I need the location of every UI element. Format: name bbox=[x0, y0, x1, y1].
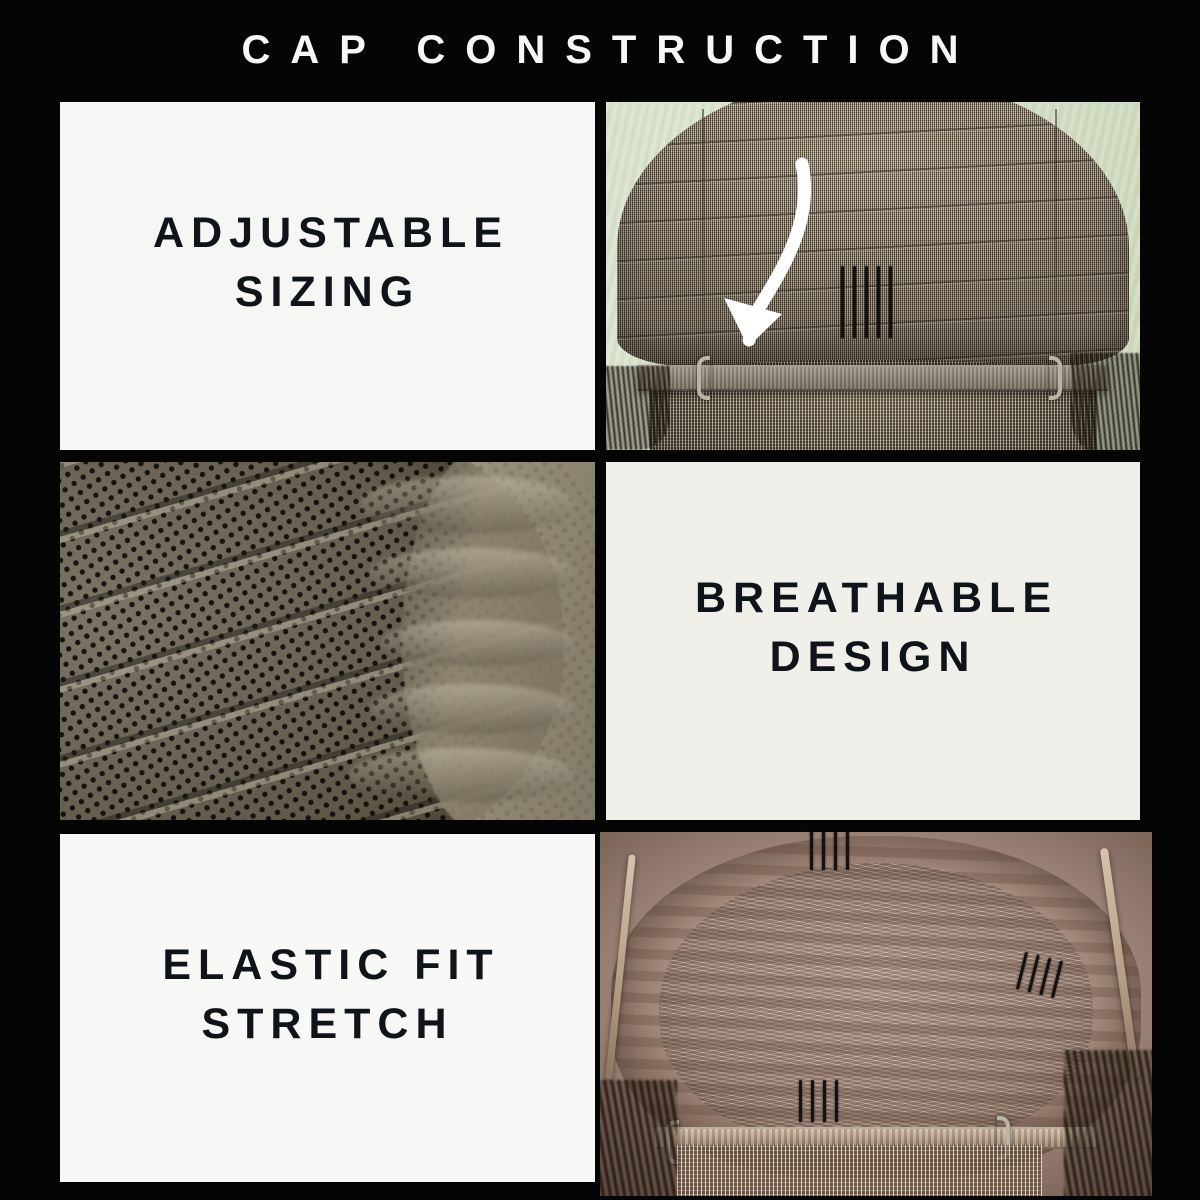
comb-tooth bbox=[822, 832, 825, 870]
cap-comb-top bbox=[810, 832, 849, 870]
panel-cap-back-photo bbox=[606, 102, 1140, 450]
photo-wig-cap-back bbox=[606, 102, 1140, 450]
comb-tooth bbox=[889, 266, 892, 338]
stray-hair-right bbox=[1071, 353, 1140, 450]
comb-tooth bbox=[877, 266, 880, 338]
comb-tooth bbox=[811, 1080, 814, 1122]
stray-hair-left bbox=[606, 366, 670, 450]
mesh-fold bbox=[349, 748, 574, 802]
comb-tooth bbox=[823, 1080, 826, 1122]
panel-label-elastic-fit-stretch: ELASTIC FIT STRETCH bbox=[155, 936, 499, 1055]
comb-tooth bbox=[1039, 957, 1051, 995]
comb-tooth bbox=[865, 266, 868, 338]
panel-label-breathable-design: BREATHABLE DESIGN bbox=[688, 569, 1058, 688]
cap-hair-left bbox=[600, 1080, 677, 1196]
panel-breathable-mesh-photo bbox=[60, 462, 595, 820]
panel-cap-inside-photo bbox=[600, 832, 1152, 1196]
strap-hook-left bbox=[697, 356, 710, 400]
comb-tooth bbox=[810, 832, 813, 870]
cap-nape-mesh bbox=[677, 1145, 1041, 1196]
page-title: CAP CONSTRUCTION bbox=[221, 30, 978, 70]
cap-seam-right bbox=[1055, 109, 1057, 367]
panel-breathable-design: BREATHABLE DESIGN bbox=[606, 462, 1140, 820]
cap-hair-right bbox=[1064, 1050, 1152, 1196]
infographic-root: CAP CONSTRUCTION ADJUSTABLE SIZING bbox=[0, 0, 1200, 1200]
strap-hook-right bbox=[1049, 356, 1062, 400]
panel-adjustable-sizing: ADJUSTABLE SIZING bbox=[60, 102, 595, 450]
comb-tooth bbox=[846, 832, 849, 870]
panel-label-adjustable-sizing: ADJUSTABLE SIZING bbox=[146, 204, 509, 323]
photo-honeycomb-mesh bbox=[60, 462, 595, 820]
mesh-fold bbox=[370, 684, 573, 734]
panel-elastic-fit-stretch: ELASTIC FIT STRETCH bbox=[60, 834, 595, 1182]
cap-comb-bottom bbox=[799, 1080, 838, 1122]
comb-tooth bbox=[1027, 955, 1039, 993]
comb-tooth bbox=[834, 832, 837, 870]
comb-tooth bbox=[841, 266, 844, 338]
header-bar: CAP CONSTRUCTION bbox=[0, 0, 1200, 100]
photo-wig-cap-interior bbox=[600, 832, 1152, 1196]
comb-tooth bbox=[835, 1080, 838, 1122]
comb-tooth bbox=[799, 1080, 802, 1122]
cap-comb bbox=[841, 266, 892, 338]
mesh-fold bbox=[370, 548, 573, 598]
mesh-fold bbox=[360, 476, 574, 533]
comb-tooth bbox=[853, 266, 856, 338]
mesh-fold bbox=[381, 620, 574, 667]
cap-seam-left bbox=[702, 109, 704, 367]
